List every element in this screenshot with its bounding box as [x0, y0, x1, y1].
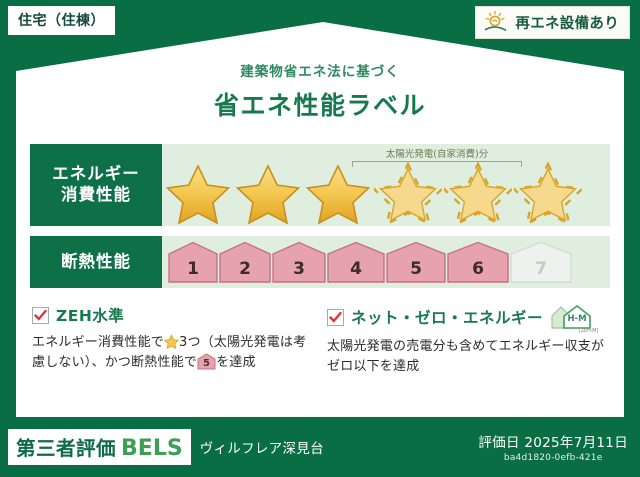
energy-performance-body: 太陽光発電(自家消費)分	[162, 144, 610, 226]
renewable-badge-label: 再エネ設備あり	[515, 12, 619, 33]
star-dashed-icon	[514, 162, 582, 224]
zeh-m-caption: [ZEH-M]	[579, 328, 598, 334]
energy-performance-row: エネルギー 消費性能 太陽光発電(自家消費)分	[30, 144, 610, 226]
insulation-performance-label: 断熱性能	[30, 236, 162, 288]
building-type-chip: 住宅（住棟）	[8, 6, 115, 35]
insulation-grade-7: 7	[510, 241, 572, 283]
building-type-label: 住宅（住棟）	[18, 13, 105, 29]
net-zero-energy-checkbox[interactable]	[327, 309, 344, 326]
criterion-nze-header: ネット・ゼロ・エネルギー H-M [ZEH-M]	[327, 304, 608, 330]
page-title: 省エネ性能ラベル	[16, 86, 624, 122]
insulation-grade-1: 1	[168, 241, 218, 283]
insulation-grade-6: 6	[447, 241, 509, 283]
star-dashed-icon	[374, 162, 442, 224]
check-icon	[329, 311, 342, 324]
criterion-zeh-standard: ZEH水準 エネルギー消費性能で3つ（太陽光発電は考慮しない）、かつ断熱性能で5…	[32, 304, 313, 377]
star-icon	[164, 162, 232, 224]
insulation-grade-3: 3	[272, 241, 326, 283]
insulation-grade-2: 2	[219, 241, 271, 283]
insulation-performance-row: 断熱性能 1 2	[30, 236, 610, 288]
subtitle: 建築物省エネ法に基づく	[16, 60, 624, 80]
zeh-m-house-icon: H-M [ZEH-M]	[550, 304, 594, 330]
solar-sun-icon	[483, 10, 509, 34]
insulation-grade-5: 5	[386, 241, 446, 283]
insulation-grade-4: 4	[327, 241, 385, 283]
renewable-equipment-badge: 再エネ設備あり	[475, 6, 630, 39]
check-icon	[34, 309, 47, 322]
label-panel: 建築物省エネ法に基づく 省エネ性能ラベル エネルギー 消費性能 太陽光発電(自家…	[16, 22, 624, 417]
evaluation-id: ba4d1820-0efb-421e	[478, 453, 628, 463]
criterion-zeh-text: エネルギー消費性能で3つ（太陽光発電は考慮しない）、かつ断熱性能で5を達成	[32, 333, 313, 373]
criterion-nze-text: 太陽光発電の売電分も含めてエネルギー収支がゼロ以下を達成	[327, 337, 608, 377]
zeh-standard-checkbox[interactable]	[32, 307, 49, 324]
evaluation-info: 評価日 2025年7月11日 ba4d1820-0efb-421e	[478, 431, 628, 463]
bels-certification-badge: 第三者評価 BELS	[8, 429, 191, 465]
bels-jp-label: 第三者評価	[16, 432, 116, 461]
star-icon	[304, 162, 372, 224]
energy-performance-label: エネルギー 消費性能	[30, 144, 162, 226]
star-rating-area: 太陽光発電(自家消費)分	[162, 144, 610, 226]
insulation-grade-badge-inline: 5	[197, 353, 216, 370]
building-name: ヴィルフレア深見台	[200, 437, 324, 457]
evaluation-date: 評価日 2025年7月11日	[478, 431, 628, 451]
bels-en-label: BELS	[121, 436, 183, 461]
star-icon	[164, 334, 179, 349]
criterion-nze-title: ネット・ゼロ・エネルギー	[351, 306, 543, 328]
insulation-performance-body: 1 2 3 4	[162, 236, 610, 288]
criterion-zeh-title: ZEH水準	[56, 304, 124, 326]
criteria-section: ZEH水準 エネルギー消費性能で3つ（太陽光発電は考慮しない）、かつ断熱性能で5…	[32, 304, 608, 377]
criterion-zeh-header: ZEH水準	[32, 304, 313, 326]
pv-bracket-caption: 太陽光発電(自家消費)分	[352, 146, 522, 160]
star-dashed-icon	[444, 162, 512, 224]
footer: 第三者評価 BELS ヴィルフレア深見台 評価日 2025年7月11日 ba4d…	[0, 417, 640, 477]
svg-text:H-M: H-M	[567, 314, 586, 324]
criterion-net-zero-energy: ネット・ゼロ・エネルギー H-M [ZEH-M] 太陽光発電の売電分も含めてエネ…	[327, 304, 608, 377]
insulation-grade-list: 1 2 3 4	[168, 241, 604, 283]
star-list	[164, 162, 606, 224]
star-icon	[234, 162, 302, 224]
